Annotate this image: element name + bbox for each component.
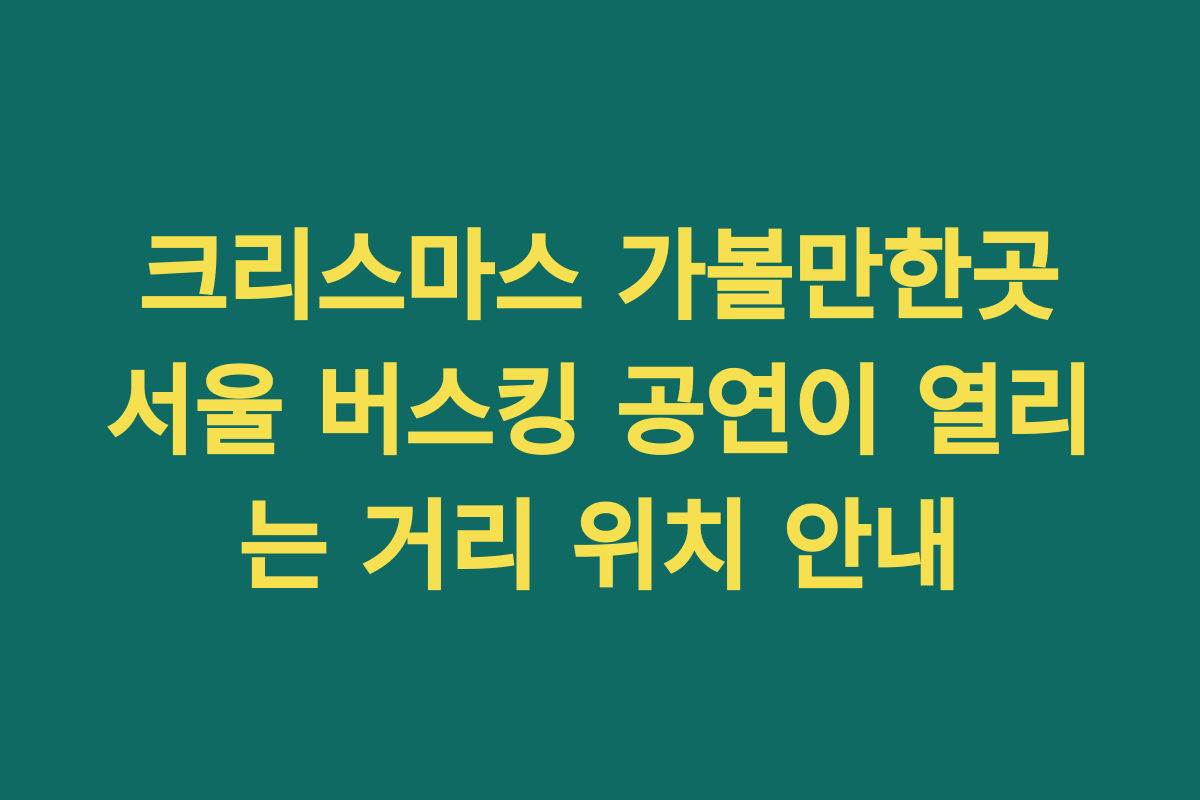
banner-canvas: 크리스마스 가볼만한곳 서울 버스킹 공연이 열리 는 거리 위치 안내 — [0, 0, 1200, 800]
page-title: 크리스마스 가볼만한곳 서울 버스킹 공연이 열리 는 거리 위치 안내 — [70, 209, 1130, 614]
title-line-1: 크리스마스 가볼만한곳 — [70, 209, 1130, 344]
title-line-2: 서울 버스킹 공연이 열리 — [70, 344, 1130, 479]
title-line-3: 는 거리 위치 안내 — [70, 479, 1130, 614]
